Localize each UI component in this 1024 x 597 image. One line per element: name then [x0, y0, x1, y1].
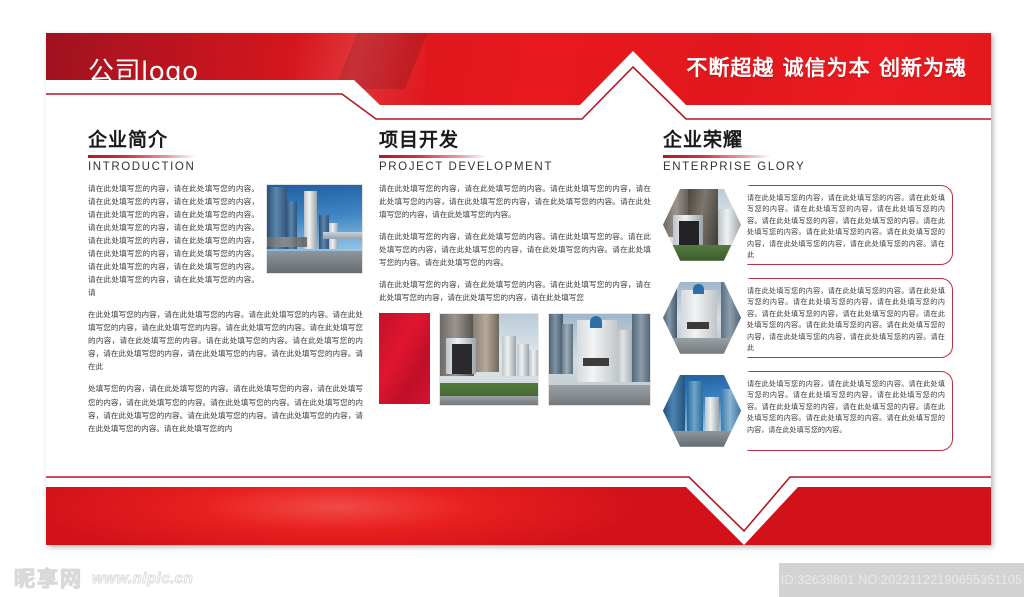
company-slogan: 不断超越 诚信为本 创新为魂	[686, 52, 967, 82]
glory-underline	[663, 155, 771, 158]
introduction-photo	[266, 184, 363, 274]
glory-item: 请在此处填写您的内容，请在此处填写您的内容。请在此处填写您的内容。请在此处填写您…	[663, 371, 953, 451]
glory-title-cn: 企业荣耀	[663, 129, 953, 152]
glory-item-text: 请在此处填写您的内容，请在此处填写您的内容。请在此处填写您的内容。请在此处填写您…	[747, 378, 945, 446]
introduction-paragraph-2: 在此处填写您的内容，请在此处填写您的内容。请在此处填写您的内容。请在此处填写您的…	[88, 308, 363, 373]
project-paragraph-2: 请在此处填写您的内容，请在此处填写您的内容。请在此处填写您的容。请在此处填写您的…	[379, 230, 651, 269]
introduction-title-cn: 企业简介	[88, 129, 363, 152]
project-paragraph-3: 请在此处填写您的内容，请在此处填写您的内容。请在此处填写您的内容，请在此处填写您…	[379, 278, 651, 304]
section-enterprise-glory: 企业荣耀 ENTERPRISE GLORY 请在此处填写您的内容，请在此处填写您…	[663, 129, 953, 464]
company-logo: 公司logo	[88, 51, 199, 88]
glory-item-text: 请在此处填写您的内容，请在此处填写您的内容。请在此处填写您的内容。请在此处填写您…	[747, 285, 945, 353]
footer-red-banner	[46, 487, 991, 545]
project-photo-street-highrise	[548, 313, 651, 406]
glory-item: 请在此处填写您的内容，请在此处填写您的内容。请在此处填写您的内容。请在此处填写您…	[663, 185, 953, 265]
watermark-site-url: www.nipic.cn	[92, 570, 193, 587]
asset-id-badge: ID:32639801 NO:20221122190655351105	[779, 563, 1024, 597]
introduction-underline	[88, 155, 196, 158]
poster-content: 企业简介 INTRODUCTION	[46, 129, 991, 459]
project-title-en: PROJECT DEVELOPMENT	[379, 161, 651, 173]
project-paragraph-1: 请在此处填写您的内容，请在此处填写您的内容。请在此处填写您的内容，请在此处填写您…	[379, 182, 651, 221]
introduction-title-en: INTRODUCTION	[88, 161, 363, 173]
project-underline	[379, 155, 487, 158]
project-photo-office-entrance	[439, 313, 539, 406]
header-shadow-wedge	[335, 33, 428, 89]
glory-item-list: 请在此处填写您的内容，请在此处填写您的内容。请在此处填写您的内容。请在此处填写您…	[663, 185, 953, 451]
section-introduction: 企业简介 INTRODUCTION	[88, 129, 363, 444]
poster-footer	[46, 459, 991, 545]
glory-title-en: ENTERPRISE GLORY	[663, 161, 953, 173]
site-watermark: 昵享网 www.nipic.cn	[14, 563, 193, 593]
glory-item: 请在此处填写您的内容，请在此处填写您的内容。请在此处填写您的内容。请在此处填写您…	[663, 278, 953, 358]
poster-canvas: 公司logo 不断超越 诚信为本 创新为魂 企业简介 INTRODUCTION	[0, 0, 1024, 597]
glory-item-textbox: 请在此处填写您的内容，请在此处填写您的内容。请在此处填写您的内容。请在此处填写您…	[719, 185, 953, 265]
poster-board: 公司logo 不断超越 诚信为本 创新为魂 企业简介 INTRODUCTION	[46, 33, 991, 545]
project-image-strip	[379, 313, 651, 406]
glory-heading: 企业荣耀 ENTERPRISE GLORY	[663, 129, 953, 173]
glory-item-textbox: 请在此处填写您的内容，请在此处填写您的内容。请在此处填写您的内容。请在此处填写您…	[719, 371, 953, 451]
glory-item-textbox: 请在此处填写您的内容，请在此处填写您的内容。请在此处填写您的内容。请在此处填写您…	[719, 278, 953, 358]
introduction-body: 请在此处填写您的内容，请在此处填写您的内容。请在此处填写您的内容，请在此处填写您…	[88, 182, 363, 308]
glory-item-text: 请在此处填写您的内容，请在此处填写您的内容。请在此处填写您的内容。请在此处填写您…	[747, 192, 945, 260]
project-red-block	[379, 313, 430, 404]
header-gloss	[296, 33, 426, 105]
project-title-cn: 项目开发	[379, 129, 651, 152]
introduction-paragraph-3: 处填写您的内容，请在此处填写您的内容。请在此处填写您的内容，请在此处填写您的内容…	[88, 382, 363, 434]
introduction-heading: 企业简介 INTRODUCTION	[88, 129, 363, 173]
poster-header: 公司logo 不断超越 诚信为本 创新为魂	[46, 33, 991, 121]
project-heading: 项目开发 PROJECT DEVELOPMENT	[379, 129, 651, 173]
section-project-development: 项目开发 PROJECT DEVELOPMENT 请在此处填写您的内容，请在此处…	[379, 129, 651, 406]
watermark-site-name: 昵享网	[14, 563, 83, 593]
